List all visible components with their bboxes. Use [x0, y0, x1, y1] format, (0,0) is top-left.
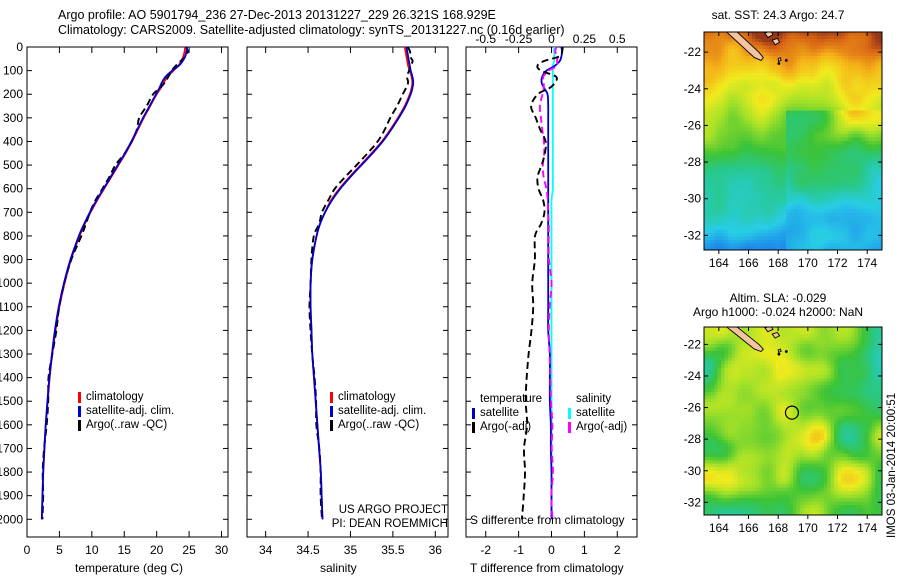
legend-header-label: salinity [576, 392, 611, 406]
sst-map-title: sat. SST: 24.3 Argo: 24.7 [672, 8, 884, 22]
island-loyalty [778, 58, 781, 62]
legend-swatch-sal-argo [568, 422, 571, 433]
x-tick-label: 30 [215, 543, 229, 557]
depth-tick-label: 1400 [0, 371, 23, 385]
lon-tick-label: 172 [827, 521, 847, 535]
depth-tick-label: 100 [3, 64, 23, 78]
panel-frame [27, 47, 228, 537]
depth-tick-label: 1300 [0, 347, 23, 361]
legend-label: Argo(..raw -QC) [338, 418, 419, 432]
depth-tick-label: 600 [3, 182, 23, 196]
x-tick-label-t: -2 [480, 543, 491, 557]
x-tick-label-t: 2 [614, 543, 621, 557]
project-credit: US ARGO PROJECT PI: DEAN ROEMMICH [250, 503, 448, 531]
sla-map-title-line2: Argo h1000: -0.024 h2000: NaN [672, 305, 884, 319]
x-tick-label-s: -0.5 [475, 32, 496, 46]
x-tick-label: 35.5 [381, 543, 405, 557]
imos-watermark: IMOS 03-Jan-2014 20:00:51 [886, 538, 900, 550]
lat-tick-label: -22 [684, 337, 702, 351]
sst-map[interactable]: 164166168170172174-22-24-26-28-30-32 [672, 30, 884, 272]
legend-header-label: temperature [480, 392, 542, 406]
lat-tick-label: -32 [684, 495, 702, 509]
depth-tick-label: 1100 [0, 300, 23, 314]
x-tick-label: 35 [344, 543, 358, 557]
legend-item: climatology [330, 390, 426, 404]
depth-tick-label: 400 [3, 134, 23, 148]
legend-item: Argo(-adj) [568, 420, 627, 434]
legend-label: Argo(-adj) [480, 420, 531, 434]
x-tick-label-t: 0 [548, 543, 555, 557]
depth-tick-label: 500 [3, 158, 23, 172]
island-loyalty [778, 349, 781, 352]
imos-watermark-text: IMOS 03-Jan-2014 20:00:51 [886, 393, 898, 538]
x-tick-label-s: 0.5 [609, 32, 626, 46]
x-tick-label: 5 [56, 543, 63, 557]
legend-swatch-argo-raw [78, 420, 81, 431]
legend-label: climatology [338, 390, 396, 404]
x-tick-label-t: -1 [513, 543, 524, 557]
map-raster [704, 327, 883, 516]
lat-tick-label: -24 [684, 369, 702, 383]
legend-swatch-temp-satellite [472, 408, 475, 419]
islet-marker [778, 62, 781, 65]
depth-tick-label: 1700 [0, 441, 23, 455]
legend-item: climatology [78, 390, 174, 404]
legend-salinity: climatology satellite-adj. clim. Argo(..… [330, 390, 426, 432]
xaxis-label-temperature: temperature (deg C) [75, 561, 183, 575]
legend-swatch-satellite-adj [78, 406, 81, 417]
legend-item: satellite [472, 406, 542, 420]
sla-map[interactable]: 164166168170172174-22-24-26-28-30-32 [672, 325, 884, 537]
depth-tick-label: 2000 [0, 512, 23, 526]
lon-tick-label: 164 [709, 256, 729, 270]
lat-tick-label: -24 [684, 82, 702, 96]
legend-swatch-sal-satellite [568, 408, 571, 419]
panel-salinity [247, 47, 448, 537]
legend-column-salinity: salinity satellite Argo(-adj) [568, 392, 627, 434]
x-tick-label-s: 0 [548, 32, 555, 46]
x-tick-label: 20 [150, 543, 164, 557]
lon-tick-label: 170 [798, 521, 818, 535]
legend-label: climatology [86, 390, 144, 404]
legend-temperature: climatology satellite-adj. clim. Argo(..… [78, 390, 174, 432]
depth-tick-label: 1600 [0, 418, 23, 432]
x-tick-label-s: 0.25 [573, 32, 597, 46]
legend-item: satellite-adj. clim. [78, 404, 174, 418]
islet-marker [785, 350, 788, 353]
islet-marker [785, 59, 788, 62]
lon-tick-label: 174 [857, 521, 877, 535]
lon-tick-label: 170 [798, 256, 818, 270]
legend-label: Argo(..raw -QC) [86, 418, 167, 432]
sla-map-title: Altim. SLA: -0.029 Argo h1000: -0.024 h2… [672, 291, 884, 319]
x-tick-label-s: -0.25 [505, 32, 533, 46]
lon-tick-label: 166 [738, 256, 758, 270]
depth-tick-label: 800 [3, 229, 23, 243]
legend-item: Argo(-adj) [472, 420, 542, 434]
legend-label: satellite [480, 406, 519, 420]
depth-tick-label: 200 [3, 87, 23, 101]
xaxis-label-t-difference: T difference from climatology [470, 561, 624, 575]
legend-item: Argo(..raw -QC) [330, 418, 426, 432]
panel-frame [247, 47, 448, 537]
lon-tick-label: 174 [857, 256, 877, 270]
depth-tick-label: 0 [16, 40, 23, 54]
xaxis-label-s-difference: S difference from climatology [470, 513, 625, 527]
x-tick-label: 36 [429, 543, 443, 557]
island-loyalty [755, 24, 766, 30]
x-tick-label-t: 1 [581, 543, 588, 557]
lon-tick-label: 168 [768, 521, 788, 535]
xaxis-label-salinity: salinity [320, 561, 357, 575]
depth-tick-label: 900 [3, 253, 23, 267]
depth-tick-label: 700 [3, 205, 23, 219]
depth-tick-label: 300 [3, 111, 23, 125]
island-loyalty [755, 320, 766, 326]
legend-label: satellite [576, 406, 615, 420]
map-raster [704, 32, 883, 251]
lon-tick-label: 172 [827, 256, 847, 270]
legend-swatch-temp-argo [472, 422, 475, 433]
islet-marker [778, 353, 781, 356]
lat-tick-label: -30 [684, 464, 702, 478]
depth-tick-label: 1200 [0, 323, 23, 337]
legend-swatch-climatology [78, 392, 81, 403]
x-tick-label: 34 [259, 543, 273, 557]
legend-header: salinity [568, 392, 627, 406]
x-tick-label: 10 [85, 543, 99, 557]
sla-map-title-line1: Altim. SLA: -0.029 [672, 291, 884, 305]
profile-panels: 0100200300400500600700800900100011001200… [0, 0, 660, 580]
x-tick-label: 34.5 [296, 543, 320, 557]
legend-label: Argo(-adj) [576, 420, 627, 434]
legend-item: satellite-adj. clim. [330, 404, 426, 418]
legend-label: satellite-adj. clim. [86, 404, 174, 418]
depth-tick-label: 1900 [0, 489, 23, 503]
legend-swatch-satellite-adj [330, 406, 333, 417]
x-tick-label: 15 [118, 543, 132, 557]
legend-swatch-argo-raw [330, 420, 333, 431]
map-canvas: 164166168170172174-22-24-26-28-30-32 [684, 314, 883, 535]
legend-swatch-climatology [330, 392, 333, 403]
panel-temperature: 0100200300400500600700800900100011001200… [0, 40, 228, 537]
lat-tick-label: -30 [684, 192, 702, 206]
lat-tick-label: -26 [684, 401, 702, 415]
map-canvas: 164166168170172174-22-24-26-28-30-32 [684, 16, 883, 270]
x-tick-label: 0 [24, 543, 31, 557]
lat-tick-label: -28 [684, 155, 702, 169]
credit-line2: PI: DEAN ROEMMICH [250, 517, 448, 531]
legend-item: satellite [568, 406, 627, 420]
lat-tick-label: -22 [684, 45, 702, 59]
legend-label: satellite-adj. clim. [338, 404, 426, 418]
legend-item: Argo(..raw -QC) [78, 418, 174, 432]
depth-tick-label: 1500 [0, 394, 23, 408]
lon-tick-label: 164 [709, 521, 729, 535]
lat-tick-label: -28 [684, 432, 702, 446]
legend-header: temperature [472, 392, 542, 406]
legend-column-temperature: temperature satellite Argo(-adj) [472, 392, 542, 434]
lon-tick-label: 166 [738, 521, 758, 535]
x-tick-label: 25 [182, 543, 196, 557]
lat-tick-label: -32 [684, 228, 702, 242]
lon-tick-label: 168 [768, 256, 788, 270]
depth-tick-label: 1000 [0, 276, 23, 290]
legend-difference: temperature satellite Argo(-adj) salinit… [472, 392, 627, 434]
lat-tick-label: -26 [684, 118, 702, 132]
depth-tick-label: 1800 [0, 465, 23, 479]
credit-line1: US ARGO PROJECT [250, 503, 448, 517]
